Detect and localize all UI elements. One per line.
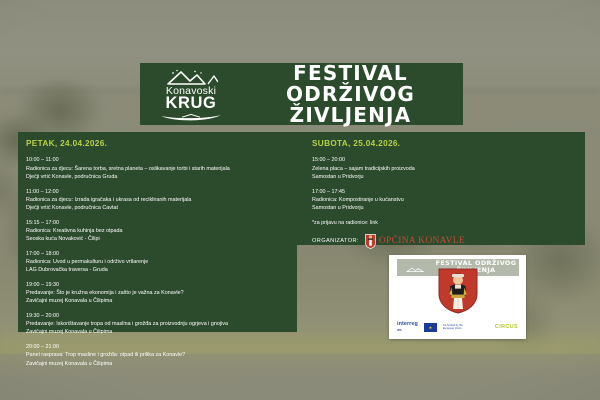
event-venue: Zavičajni muzej Konavala u Čilipima [26, 297, 294, 305]
eu-flag-icon: ★ [424, 323, 437, 332]
event-venue: Zavičajni muzej Konavala u Čilipima [26, 360, 294, 368]
konavoski-krug-logo: Konavoski KRUG [148, 67, 234, 122]
schedule-event: 17:00 – 17:45 Radionica: Kompostiranje u… [312, 188, 572, 213]
interreg-wordmark: interreg [397, 322, 418, 327]
event-title: Zelena placa – sajam tradicijskih proizv… [312, 165, 572, 173]
schedule-event: 19:00 – 19:30 Predavanje: Što je kružna … [26, 281, 294, 306]
poster-thumbnail[interactable]: Konavoski KRUG FESTIVAL ODRŽIVOG ŽIVLJEN… [389, 255, 526, 339]
event-time: 11:00 – 12:00 [26, 188, 294, 196]
schedule-event: 15:00 – 20:00 Zelena placa – sajam tradi… [312, 156, 572, 181]
poster-thumbnail-funding-strip: interreg IPA ★ Co-funded by the European… [389, 315, 526, 339]
festival-title-line-1: FESTIVAL ODRŽIVOG [286, 61, 415, 106]
event-time: 17:00 – 17:45 [312, 188, 572, 196]
circus-project-logo: CIRCUS [495, 324, 518, 330]
event-venue: Dječji vrtić Konavle, područnica Gruda [26, 173, 294, 181]
event-venue: Dječji vrtić Konavle, područnica Cavtat [26, 204, 294, 212]
interreg-programme: IPA [397, 329, 418, 332]
konavle-coat-of-arms-icon [365, 234, 376, 249]
schedule-event: 15:15 – 17:00 Radionica: Kreativna kuhin… [26, 219, 294, 244]
event-time: 17:00 – 18:00 [26, 250, 294, 258]
eu-stars: ★ [424, 323, 437, 332]
event-venue: Zavičajni muzej Konavala u Čilipima [26, 328, 294, 336]
event-title: Radionica za djecu: Izrada igračaka i uk… [26, 196, 294, 204]
wave-swoosh-icon [160, 113, 222, 122]
opcina-konavle-logo: OPĆINA KONAVLE [365, 234, 465, 249]
mountain-icon [164, 69, 218, 85]
event-venue: Samostan u Pridvorju [312, 173, 572, 181]
page-title: FESTIVAL ODRŽIVOG ŽIVLJENJA [244, 63, 463, 126]
eu-funding-caption: Co-funded by the European Union [443, 324, 473, 330]
event-venue: Seoska kuća Novaković - Čilipi [26, 235, 294, 243]
festival-title-line-2: ŽIVLJENJA [244, 105, 457, 126]
event-time: 15:00 – 20:00 [312, 156, 572, 164]
schedule-event: 11:00 – 12:00 Radionica za djecu: Izrada… [26, 188, 294, 213]
schedule-event: 19:30 – 20:00 Predavanje: Iskorištavanje… [26, 312, 294, 337]
event-time: 19:30 – 20:00 [26, 312, 294, 320]
event-title: Panel rasprava: Trop masline i grožđa: o… [26, 351, 294, 359]
schedule-column-saturday: SUBOTA, 25.04.2026. 15:00 – 20:00 Zelena… [312, 138, 572, 249]
event-title: Predavanje: Iskorištavanje tropa od masl… [26, 320, 294, 328]
schedule-column-friday: PETAK, 24.04.2026. 10:00 – 11:00 Radioni… [26, 138, 294, 374]
schedule-event: 10:00 – 11:00 Radionica za djecu: Šarena… [26, 156, 294, 181]
schedule-event: 20:00 – 21:00 Panel rasprava: Trop masli… [26, 343, 294, 368]
event-venue: Samostan u Pridvorju [312, 204, 572, 212]
event-title: Radionica: Kompostiranje u kućanstvu [312, 196, 572, 204]
event-venue: LAG Dubrovačka traversa - Gruda [26, 266, 294, 274]
event-title: Radionica za djecu: Šarena torba, sretna… [26, 165, 294, 173]
event-title: Radionica: Uvod u permakulturu i održivo… [26, 258, 294, 266]
schedule-event: 17:00 – 18:00 Radionica: Uvod u permakul… [26, 250, 294, 275]
event-time: 19:00 – 19:30 [26, 281, 294, 289]
day-heading-friday: PETAK, 24.04.2026. [26, 138, 294, 150]
event-title: Predavanje: Što je kružna ekonomija i za… [26, 289, 294, 297]
brand-name-bottom: KRUG [166, 95, 217, 112]
event-time: 20:00 – 21:00 [26, 343, 294, 351]
event-time: 10:00 – 11:00 [26, 156, 294, 164]
organizer-name: OPĆINA KONAVLE [379, 234, 465, 248]
day-heading-saturday: SUBOTA, 25.04.2026. [312, 138, 572, 150]
event-time: 15:15 – 17:00 [26, 219, 294, 227]
registration-note[interactable]: *za prijavu na radionice: link [312, 219, 572, 227]
organizer-row: ORGANIZATOR: OPĆINA KONAVLE [312, 234, 572, 249]
event-title: Radionica: Kreativna kuhinja bez otpada [26, 227, 294, 235]
poster-thumbnail-crest [389, 268, 526, 314]
organizer-label: ORGANIZATOR: [312, 237, 359, 246]
festival-header-band: Konavoski KRUG FESTIVAL ODRŽIVOG ŽIVLJEN… [140, 63, 463, 125]
interreg-logo: interreg IPA [397, 322, 418, 332]
festival-poster-image: Konavoski KRUG FESTIVAL ODRŽIVOG ŽIVLJEN… [0, 0, 600, 400]
konavle-folk-costume-crest-icon [438, 268, 478, 314]
